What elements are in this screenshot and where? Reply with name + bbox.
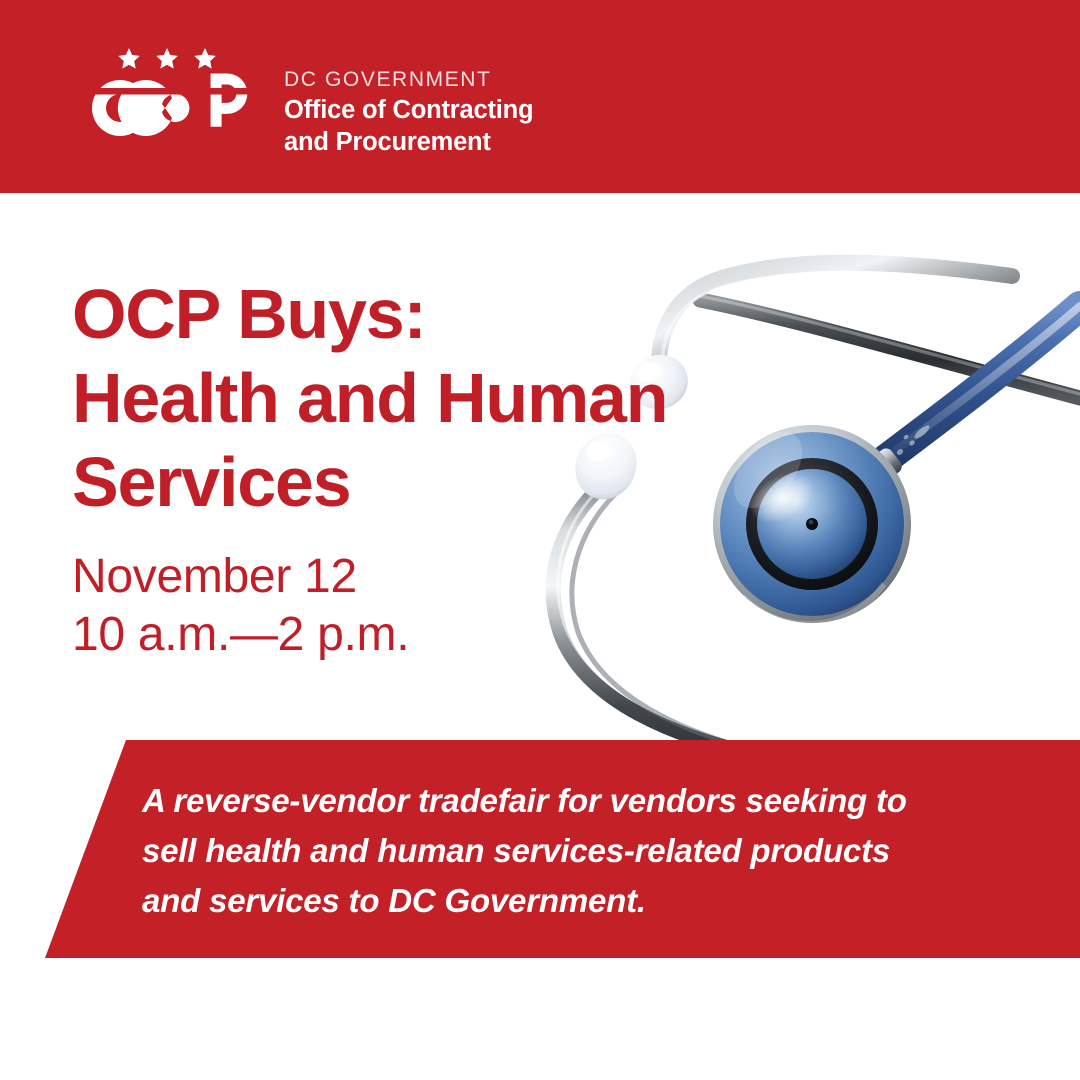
description-banner: A reverse-vendor tradefair for vendors s… [0, 740, 1080, 958]
agency-name-line-1: Office of Contracting [284, 96, 533, 126]
page-title-line-1: OCP Buys: [72, 272, 792, 356]
event-datetime-block: November 12 10 a.m.—2 p.m. [72, 548, 792, 664]
title-block: OCP Buys: Health and Human Services Nove… [72, 272, 792, 664]
agency-text-block: DC GOVERNMENT Office of Contracting and … [284, 68, 533, 158]
page-title-line-2: Health and Human [72, 356, 792, 440]
description-line-3: and services to DC Government. [142, 876, 1042, 926]
page-title-line-3: Services [72, 440, 792, 524]
header-band: DC GOVERNMENT Office of Contracting and … [0, 0, 1080, 193]
description-text: A reverse-vendor tradefair for vendors s… [142, 776, 1042, 926]
agency-name-line-2: and Procurement [284, 128, 533, 158]
event-time: 10 a.m.—2 p.m. [72, 606, 792, 664]
dc-government-label: DC GOVERNMENT [284, 68, 533, 93]
ocp-three-stars-logo [88, 48, 256, 148]
description-line-2: sell health and human services-related p… [142, 826, 1042, 876]
event-date: November 12 [72, 548, 792, 606]
description-line-1: A reverse-vendor tradefair for vendors s… [142, 776, 1042, 826]
ocp-logo-lockup: DC GOVERNMENT Office of Contracting and … [88, 48, 533, 158]
poster-canvas: DC GOVERNMENT Office of Contracting and … [0, 0, 1080, 1080]
